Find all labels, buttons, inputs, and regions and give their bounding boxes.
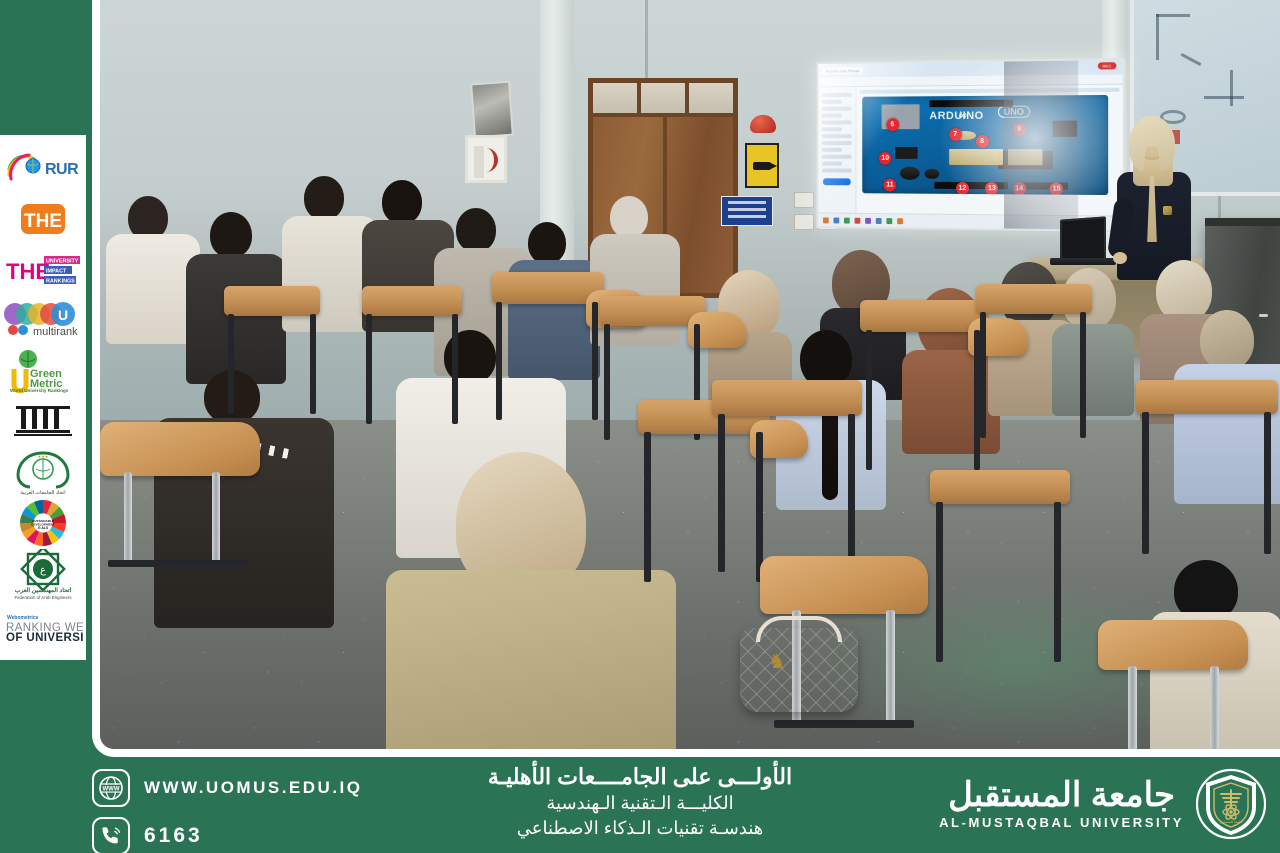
- wall-picture: [470, 81, 514, 139]
- slide-note-bar: [859, 88, 1119, 94]
- svg-text:RANKINGS: RANKINGS: [46, 278, 75, 284]
- ministry-logo: [3, 396, 83, 447]
- callout-marker: 7: [949, 128, 962, 141]
- student-chair: [100, 412, 290, 592]
- svg-text:multirank: multirank: [33, 326, 78, 338]
- svg-text:Webometrics: Webometrics: [7, 615, 39, 621]
- slide-sidebar[interactable]: [818, 87, 856, 213]
- phone-icon: [92, 817, 130, 853]
- website-text[interactable]: WWW.UOMUS.EDU.IQ: [144, 778, 362, 798]
- svg-text:G ALS: G ALS: [38, 526, 49, 530]
- svg-text:ع: ع: [40, 565, 46, 576]
- university-brand-block: جامعة المستقبل AL-MUSTAQBAL UNIVERSITY: [939, 767, 1266, 841]
- student-chair: [1098, 620, 1280, 749]
- student-chair: [976, 284, 1126, 454]
- callout-marker: 12: [956, 182, 969, 195]
- cctv-warning-sign: [745, 143, 779, 188]
- university-brand-text: جامعة المستقبل AL-MUSTAQBAL UNIVERSITY: [939, 778, 1184, 831]
- student-chair: [930, 470, 1120, 680]
- wall-socket-lower: [794, 214, 814, 230]
- sdg-wheel-logo: SUSTAINABLE DEVELOPMENT G ALS: [3, 497, 83, 549]
- accreditation-logo-rail: RUR THE THE UNIVERSITY IMPACT RANKINGS: [0, 135, 86, 660]
- svg-text:اتحاد الجامعات العربية: اتحاد الجامعات العربية: [20, 490, 65, 495]
- svg-text:RUR: RUR: [45, 161, 79, 178]
- college-name: الكليـــة الـتقنية الـهندسية: [430, 791, 850, 816]
- handbag: ♞: [740, 628, 858, 712]
- u-multirank-logo: U multirank: [3, 295, 83, 346]
- student-chair: [362, 286, 492, 436]
- the-impact-rankings-logo: THE UNIVERSITY IMPACT RANKINGS: [3, 244, 83, 295]
- svg-text:Federation of Arab Engineers: Federation of Arab Engineers: [14, 595, 72, 600]
- student-chair: [224, 286, 344, 426]
- presenter-person: [1113, 120, 1195, 280]
- blue-info-plaque: [721, 196, 773, 226]
- department-name: هندسـة تقنيات الـذكاء الاصطناعي: [430, 816, 850, 841]
- photo-frame: Arduino Uno Pinout REC: [92, 0, 1280, 757]
- svg-text:THE: THE: [6, 259, 50, 284]
- svg-text:THE: THE: [24, 211, 62, 232]
- website-row[interactable]: WWW WWW.UOMUS.EDU.IQ: [92, 769, 422, 807]
- presenter-hand: [1113, 252, 1127, 264]
- door-transom: [593, 83, 733, 117]
- callout-marker: 13: [985, 182, 998, 195]
- phone-text[interactable]: 6163: [144, 824, 203, 848]
- association-arab-universities-logo: ★★★ اتحاد الجامعات العربية: [3, 447, 83, 498]
- rur-logo: RUR: [3, 143, 83, 194]
- handbag-logo-icon: ♞: [768, 652, 786, 672]
- callout-marker: 10: [879, 152, 892, 165]
- presenter-badge-pin: [1163, 206, 1172, 215]
- arduino-brand-text: ARDUINO: [929, 110, 983, 122]
- svg-text:WWW: WWW: [103, 786, 120, 792]
- student-chair: [1136, 380, 1280, 570]
- slide-main: ∞ ARDUINO UNO: [856, 85, 1122, 216]
- handbag-strap: [756, 616, 842, 642]
- globe-www-icon: WWW: [92, 769, 130, 807]
- svg-text:U: U: [58, 307, 68, 323]
- federation-arab-engineers-logo: ع اتحاد المهندسين العرب Federation of Ar…: [3, 549, 83, 601]
- university-name-english: AL-MUSTAQBAL UNIVERSITY: [939, 815, 1184, 830]
- slide-sidebar-button[interactable]: [823, 178, 851, 185]
- webometrics-logo: Webometrics RANKING WEB OF UNIVERSITIES: [3, 601, 83, 652]
- tagline-first-private-universities: الأولـــى على الجامــــعات الأهليـة: [430, 763, 850, 791]
- recording-badge: REC: [1097, 62, 1116, 69]
- classroom-photo: Arduino Uno Pinout REC: [100, 0, 1280, 749]
- browser-tab[interactable]: Arduino Uno Pinout: [822, 67, 863, 74]
- svg-text:World University Rankings: World University Rankings: [10, 388, 69, 393]
- contact-block: WWW WWW.UOMUS.EDU.IQ 6163: [92, 769, 422, 853]
- screen-shadow-band: [1004, 61, 1079, 230]
- cctv-camera-icon: [753, 162, 771, 170]
- callout-marker: 11: [884, 179, 897, 192]
- faculty-arabic-block: الأولـــى على الجامــــعات الأهليـة الكل…: [430, 763, 850, 841]
- presenter-laptop-base: [1050, 258, 1116, 265]
- fire-alarm-icon: [750, 115, 776, 133]
- svg-text:OF UNIVERSITIES: OF UNIVERSITIES: [6, 632, 83, 644]
- svg-text:UNIVERSITY: UNIVERSITY: [46, 258, 79, 264]
- projection-screen: Arduino Uno Pinout REC: [816, 58, 1124, 232]
- poster-canvas: Arduino Uno Pinout REC: [0, 0, 1280, 853]
- university-name-arabic: جامعة المستقبل: [939, 778, 1184, 814]
- wall-shelf-box: [465, 135, 507, 183]
- svg-text:IMPACT: IMPACT: [46, 268, 67, 274]
- presenter-laptop: [1060, 216, 1106, 263]
- footer-bar: WWW WWW.UOMUS.EDU.IQ 6163 الأولـــى على …: [0, 757, 1280, 853]
- phone-row[interactable]: 6163: [92, 817, 422, 853]
- svg-text:★★★: ★★★: [38, 454, 49, 459]
- callout-marker: 6: [886, 118, 899, 131]
- university-shield-icon: جامعة المستقبل: [1196, 767, 1266, 841]
- svg-text:اتحاد المهندسين العرب: اتحاد المهندسين العرب: [15, 587, 72, 594]
- ui-greenmetric-logo: Green Metric World University Rankings: [3, 346, 83, 397]
- wall-socket-upper: [794, 192, 814, 208]
- svg-text:جامعة المستقبل: جامعة المستقبل: [1220, 820, 1243, 824]
- callout-marker: 8: [976, 135, 989, 148]
- the-logo: THE: [3, 194, 83, 245]
